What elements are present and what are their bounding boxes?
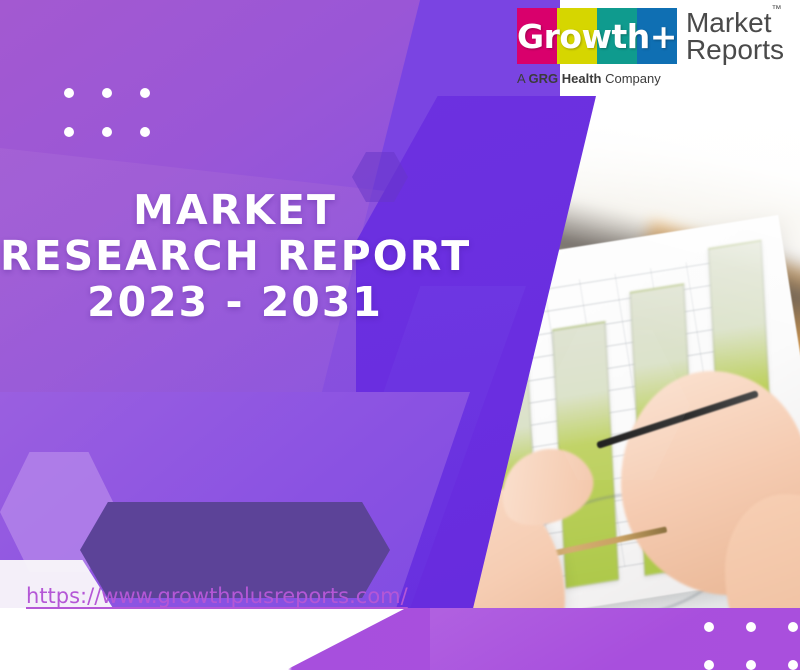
dot xyxy=(788,660,798,670)
logo-brand-text: Market™ Reports xyxy=(686,8,784,64)
dot xyxy=(140,127,150,137)
tagline-suffix: Company xyxy=(602,71,661,86)
logo-tagline: A GRG Health Company xyxy=(517,71,661,86)
logo-brand-line-1: Market™ xyxy=(686,9,784,36)
dot-grid-top-left xyxy=(64,88,150,137)
brand-logo[interactable]: Growth+ Market™ Reports A GRG Health Com… xyxy=(517,8,784,86)
title-line-3: 2023 - 2031 xyxy=(0,280,470,326)
website-url-link[interactable]: https://www.growthplusreports.com/ xyxy=(26,584,408,608)
report-cover: Growth+ Market™ Reports A GRG Health Com… xyxy=(0,0,800,670)
dot xyxy=(102,88,112,98)
title-line-2: RESEARCH REPORT xyxy=(0,234,470,280)
dot xyxy=(746,622,756,632)
title-line-1: MARKET xyxy=(0,188,470,234)
logo-brand-line-2: Reports xyxy=(686,36,784,63)
dot xyxy=(704,660,714,670)
logo-brand-market: Market xyxy=(686,7,772,38)
dot xyxy=(788,622,798,632)
trademark-icon: ™ xyxy=(772,4,782,15)
report-title: MARKET RESEARCH REPORT 2023 - 2031 xyxy=(0,188,470,326)
dot xyxy=(140,88,150,98)
dot xyxy=(704,622,714,632)
dot xyxy=(64,127,74,137)
dot xyxy=(746,660,756,670)
dot xyxy=(64,88,74,98)
logo-primary-row: Growth+ Market™ Reports xyxy=(517,8,784,64)
dot xyxy=(102,127,112,137)
tagline-bold: GRG Health xyxy=(529,71,602,86)
logo-colorblock-mark: Growth+ xyxy=(517,8,677,64)
logo-wordmark: Growth+ xyxy=(517,8,677,64)
tagline-prefix: A xyxy=(517,71,529,86)
dot-grid-bottom-right xyxy=(704,622,798,670)
